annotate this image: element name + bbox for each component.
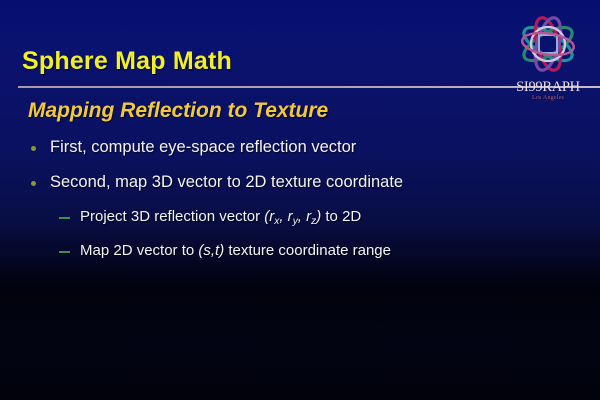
list-item: Second, map 3D vector to 2D texture coor… — [0, 173, 600, 208]
slide-canvas: Sphere Map Math Mapping Reflection to Te… — [0, 0, 600, 400]
list-item: First, compute eye-space reflection vect… — [0, 138, 600, 173]
bullet-dot-icon — [31, 146, 36, 151]
siggraph-rings-icon — [500, 8, 596, 80]
list-item: Project 3D reflection vector (rx, ry, rz… — [0, 208, 600, 242]
slide-title: Sphere Map Math — [22, 47, 232, 76]
bullet-dash-icon — [59, 217, 70, 219]
slide-body: First, compute eye-space reflection vect… — [0, 138, 600, 276]
slide-subtitle: Mapping Reflection to Texture — [28, 99, 328, 123]
bullet-dash-icon — [59, 251, 70, 253]
bullet-text: First, compute eye-space reflection vect… — [50, 138, 356, 156]
bullet-dot-icon — [31, 181, 36, 186]
siggraph-wordmark: SI99RAPH — [500, 80, 596, 95]
bullet-text: Project 3D reflection vector (rx, ry, rz… — [80, 208, 361, 225]
siggraph-city-label: Los Angeles — [500, 95, 596, 101]
bullet-text: Map 2D vector to (s,t) texture coordinat… — [80, 242, 391, 259]
list-item: Map 2D vector to (s,t) texture coordinat… — [0, 242, 600, 276]
bullet-text: Second, map 3D vector to 2D texture coor… — [50, 173, 403, 191]
siggraph-logo: SI99RAPH Los Angeles — [500, 8, 596, 108]
